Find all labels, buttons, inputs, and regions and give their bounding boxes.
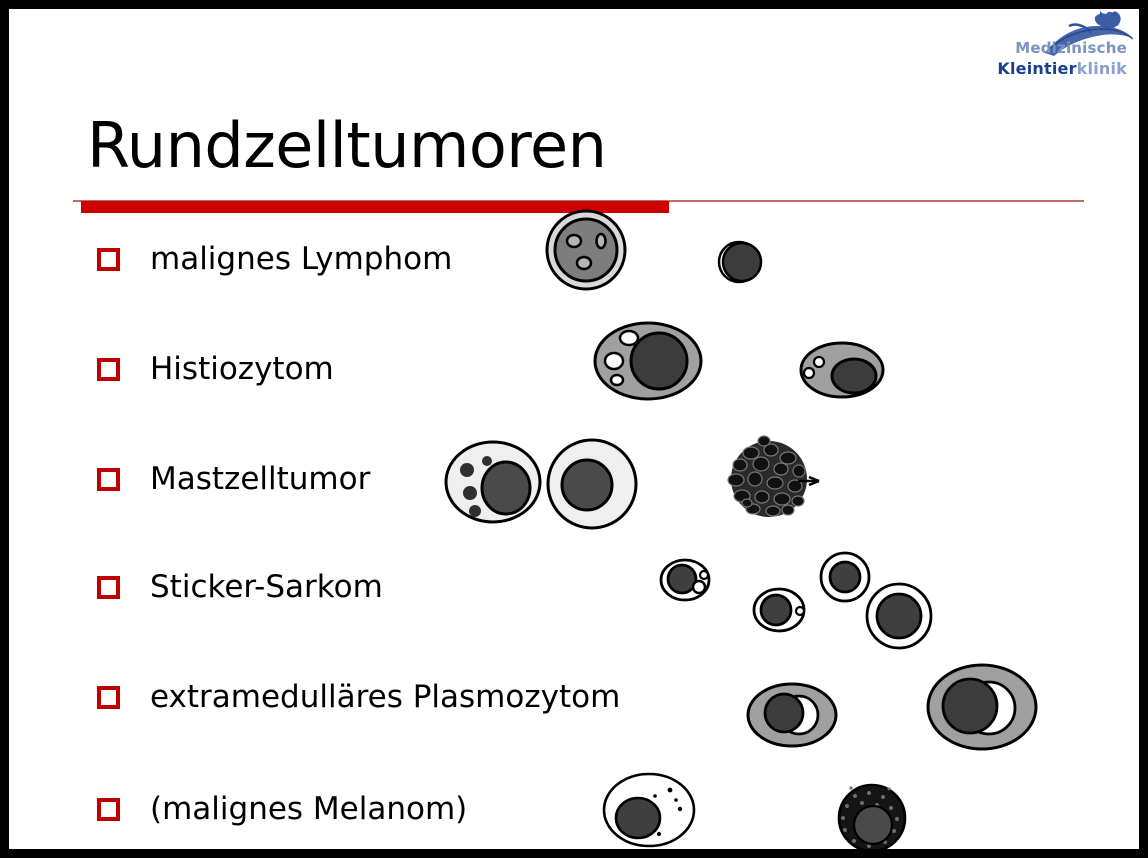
melanoma-cell-amelanotic: [604, 774, 694, 846]
lymphoma-cell-large: [547, 211, 625, 289]
bullet-square-icon: [97, 798, 120, 821]
plasmacytoma-cell-small: [748, 684, 836, 746]
plasmacytoma-cell-large: [928, 665, 1036, 749]
list-item-label: Mastzelltumor: [150, 464, 370, 495]
list-item-label: Histiozytom: [150, 354, 334, 385]
sticker-sarcoma-cell-2: [754, 589, 804, 631]
list-item[interactable]: extramedulläres Plasmozytom: [97, 677, 620, 717]
bullet-square-icon: [97, 468, 120, 491]
sticker-sarcoma-cell-4: [867, 584, 931, 648]
page-title: Rundzelltumoren: [87, 113, 606, 178]
logo-line-kleintierklinik: Kleintierklinik: [997, 61, 1127, 77]
list-item[interactable]: Mastzelltumor: [97, 459, 370, 499]
lymphoma-cell-small: [719, 242, 761, 282]
bullet-square-icon: [97, 248, 120, 271]
list-item[interactable]: Histiozytom: [97, 349, 334, 389]
bullet-square-icon: [97, 686, 120, 709]
mast-cell-agranular: [548, 440, 636, 528]
list-item[interactable]: Sticker-Sarkom: [97, 567, 383, 607]
list-item[interactable]: malignes Lymphom: [97, 239, 452, 279]
list-item-label: Sticker-Sarkom: [150, 572, 383, 603]
bullet-square-icon: [97, 358, 120, 381]
clinic-logo: Medizinische Kleintierklinik: [943, 11, 1133, 87]
sticker-sarcoma-cell-3: [821, 553, 869, 601]
bullet-square-icon: [97, 576, 120, 599]
logo-word-kleintier: Kleintier: [997, 59, 1076, 78]
list-item-label: (malignes Melanom): [150, 794, 467, 825]
mast-cell-dense-granules: [728, 436, 819, 517]
logo-word-klinik: klinik: [1077, 59, 1127, 78]
melanoma-cell-pigmented: [839, 785, 905, 849]
list-item-label: extramedulläres Plasmozytom: [150, 682, 620, 713]
mast-cell-granulated: [446, 442, 540, 522]
slide-canvas: Medizinische Kleintierklinik Rundzelltum…: [0, 0, 1148, 858]
title-rule-thick: [81, 201, 669, 213]
logo-line-medizinische: Medizinische: [1015, 41, 1127, 56]
histiocytoma-cell-large: [595, 323, 701, 399]
sticker-sarcoma-cell-1: [661, 560, 709, 600]
list-item[interactable]: (malignes Melanom): [97, 789, 467, 829]
list-item-label: malignes Lymphom: [150, 244, 452, 275]
histiocytoma-cell-small: [801, 343, 883, 397]
